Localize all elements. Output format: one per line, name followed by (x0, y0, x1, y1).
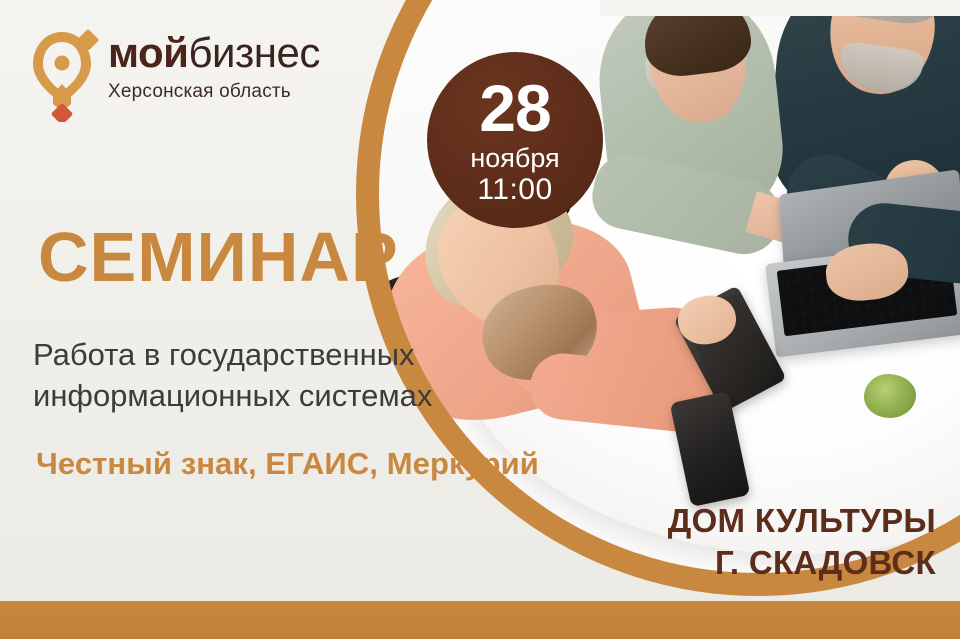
brand-word-secondary: бизнес (189, 29, 320, 76)
subtitle-block: Работа в государственных информационных … (33, 335, 553, 417)
date-day: 28 (479, 75, 550, 141)
brand-subtitle: Херсонская область (108, 81, 320, 103)
date-month: ноября (470, 145, 559, 172)
brand-wordmark: мойбизнес Херсонская область (108, 32, 320, 103)
page-title: СЕМИНАР (38, 222, 399, 292)
brand-logo: мойбизнес Херсонская область (24, 26, 354, 122)
gold-arc-top-trim (600, 0, 960, 16)
poster-banner: 28 ноября 11:00 мойбизнес Херсонская обл… (0, 0, 960, 639)
venue-block: ДОМ КУЛЬТУРЫ Г. СКАДОВСК (668, 500, 936, 584)
subtitle-line-1: Работа в государственных (33, 335, 553, 376)
subtitle-line-2: информационных системах (33, 376, 553, 417)
systems-tagline: Честный знак, ЕГАИС, Меркурий (36, 446, 539, 482)
brand-word-primary: мой (108, 29, 189, 76)
venue-line-2: Г. СКАДОВСК (668, 542, 936, 584)
brand-word-row: мойбизнес (108, 32, 320, 74)
date-badge: 28 ноября 11:00 (427, 52, 603, 228)
bottom-accent-bar (0, 601, 960, 639)
location-pin-icon (24, 26, 100, 122)
date-time: 11:00 (477, 175, 552, 205)
venue-line-1: ДОМ КУЛЬТУРЫ (668, 500, 936, 542)
